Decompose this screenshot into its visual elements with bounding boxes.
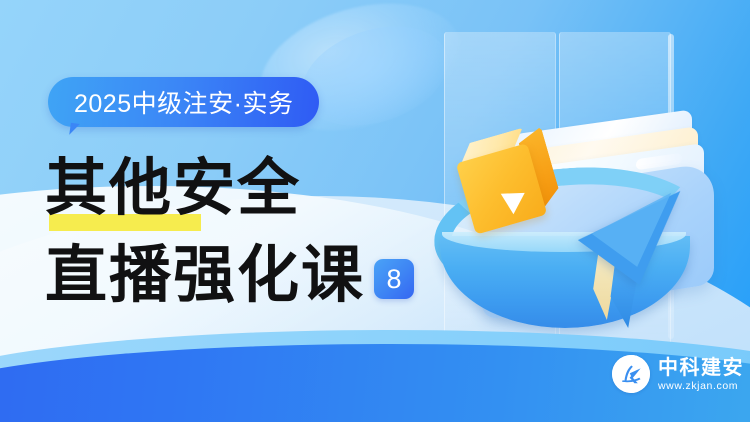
brand-logo-text: 中科建安 www.zkjan.com xyxy=(658,357,744,392)
headline-line-1: 其他安全 xyxy=(45,155,301,221)
course-category-label: 2025中级注安·实务 xyxy=(74,84,293,120)
brand-logo: 中科建安 www.zkjan.com xyxy=(612,355,744,393)
pill-tail-pointer xyxy=(69,123,88,137)
headline-block: 其他安全 直播强化课 8 xyxy=(45,150,465,308)
play-triangle-icon xyxy=(501,193,526,215)
episode-number-label: 8 xyxy=(387,266,402,293)
course-category-badge: 2025中级注安·实务 xyxy=(48,77,319,127)
episode-number-badge: 8 xyxy=(374,259,414,299)
headline-line-2-row: 直播强化课 8 xyxy=(45,234,465,308)
course-category-pill: 2025中级注安·实务 xyxy=(48,77,319,127)
headline-line-2: 直播强化课 xyxy=(45,242,365,308)
brand-website: www.zkjan.com xyxy=(658,381,744,392)
brand-name: 中科建安 xyxy=(658,357,744,377)
headline-line-1-row: 其他安全 xyxy=(45,150,465,226)
course-promo-poster: 2025中级注安·实务 其他安全 直播强化课 8 中科建安 xyxy=(0,0,750,422)
compass-sail-logo-icon xyxy=(612,355,650,393)
